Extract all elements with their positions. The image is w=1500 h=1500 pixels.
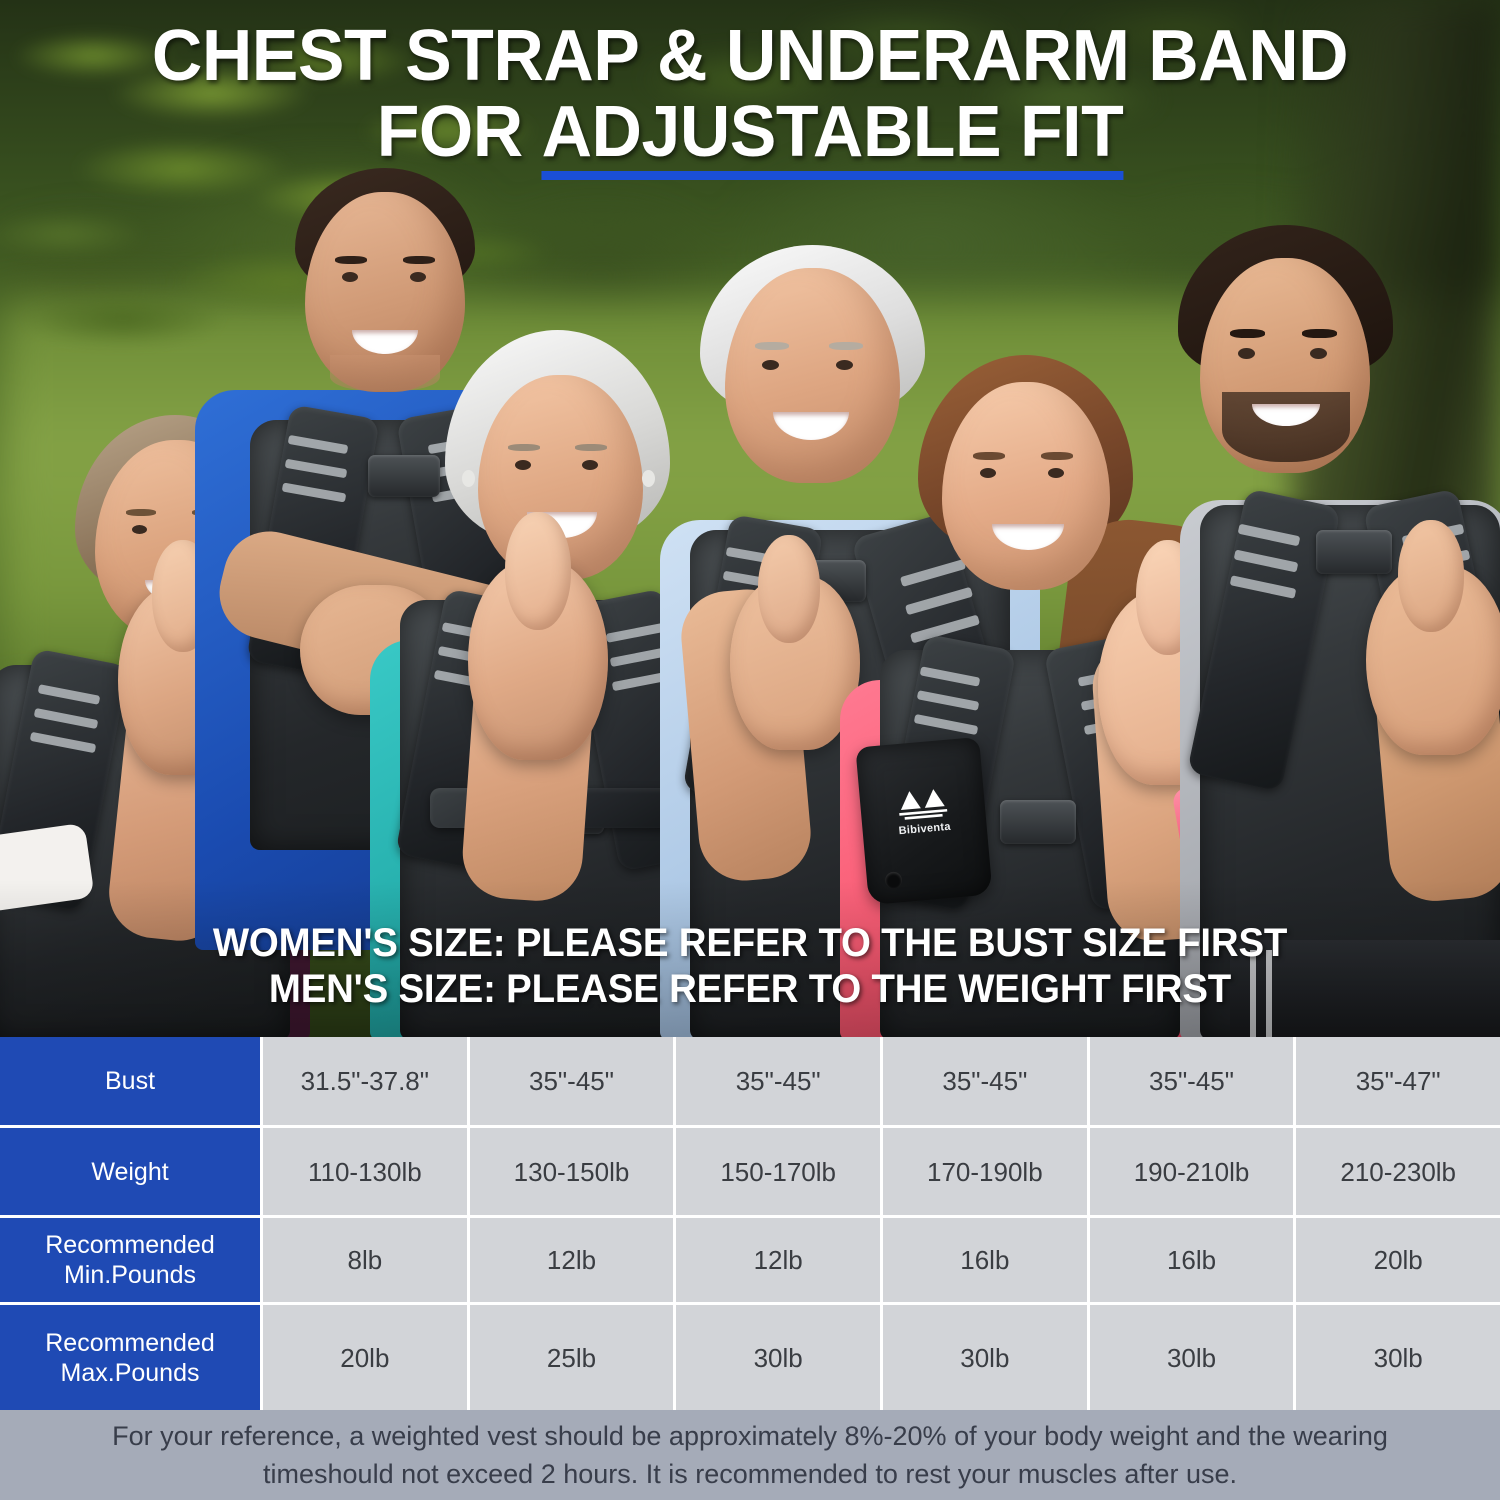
- cell-max-2: 25lb: [467, 1305, 674, 1410]
- cell-max-1: 20lb: [260, 1305, 467, 1410]
- row-label-max-pounds-l2: Max.Pounds: [61, 1359, 200, 1387]
- beard: [1222, 392, 1350, 462]
- note-mens-size: MEN'S SIZE: PLEASE REFER TO THE WEIGHT F…: [30, 966, 1470, 1012]
- reference-note-line-1: For your reference, a weighted vest shou…: [112, 1417, 1388, 1455]
- headline-line-1: CHEST STRAP & UNDERARM BAND: [23, 18, 1478, 94]
- cell-min-6: 20lb: [1293, 1218, 1500, 1305]
- cell-bust-5: 35"-45": [1087, 1037, 1294, 1128]
- row-label-weight: Weight: [0, 1128, 260, 1218]
- cell-bust-1: 31.5"-37.8": [260, 1037, 467, 1128]
- row-label-max-pounds: RecommendedMax.Pounds: [0, 1305, 260, 1410]
- brand-logo-block: Bibiventa: [881, 783, 965, 839]
- cell-weight-2: 130-150lb: [467, 1128, 674, 1218]
- row-label-min-pounds-l1: Recommended: [45, 1231, 215, 1259]
- headline-line-2: FOR ADJUSTABLE FIT: [23, 94, 1478, 180]
- table-row-max-pounds: RecommendedMax.Pounds 20lb 25lb 30lb 30l…: [0, 1305, 1500, 1410]
- table-row-weight: Weight 110-130lb 130-150lb 150-170lb 170…: [0, 1128, 1500, 1218]
- row-label-min-pounds: RecommendedMin.Pounds: [0, 1218, 260, 1305]
- cell-bust-2: 35"-45": [467, 1037, 674, 1128]
- headline-line-2-underlined: ADJUSTABLE FIT: [542, 94, 1124, 180]
- cell-min-5: 16lb: [1087, 1218, 1294, 1305]
- cell-weight-5: 190-210lb: [1087, 1128, 1294, 1218]
- cell-weight-4: 170-190lb: [880, 1128, 1087, 1218]
- cell-weight-1: 110-130lb: [260, 1128, 467, 1218]
- reference-note: For your reference, a weighted vest shou…: [0, 1410, 1500, 1500]
- row-label-max-pounds-l1: Recommended: [45, 1329, 215, 1357]
- cell-weight-3: 150-170lb: [673, 1128, 880, 1218]
- headline-line-2-plain: FOR: [377, 92, 542, 172]
- cell-min-4: 16lb: [880, 1218, 1087, 1305]
- cell-bust-4: 35"-45": [880, 1037, 1087, 1128]
- cell-bust-3: 35"-45": [673, 1037, 880, 1128]
- table-row-min-pounds: RecommendedMin.Pounds 8lb 12lb 12lb 16lb…: [0, 1218, 1500, 1305]
- cell-max-4: 30lb: [880, 1305, 1087, 1410]
- headline: CHEST STRAP & UNDERARM BAND FOR ADJUSTAB…: [0, 18, 1500, 180]
- cell-min-1: 8lb: [260, 1218, 467, 1305]
- reference-note-line-2: timeshould not exceed 2 hours. It is rec…: [263, 1455, 1237, 1493]
- size-chart-table: Bust 31.5"-37.8" 35"-45" 35"-45" 35"-45"…: [0, 1037, 1500, 1410]
- note-womens-size: WOMEN'S SIZE: PLEASE REFER TO THE BUST S…: [30, 920, 1470, 966]
- mountain-peaks-icon: [893, 784, 952, 823]
- cell-weight-6: 210-230lb: [1293, 1128, 1500, 1218]
- row-label-bust: Bust: [0, 1037, 260, 1128]
- cell-max-3: 30lb: [673, 1305, 880, 1410]
- cell-bust-6: 35"-47": [1293, 1037, 1500, 1128]
- cell-max-6: 30lb: [1293, 1305, 1500, 1410]
- row-label-min-pounds-l2: Min.Pounds: [64, 1261, 196, 1289]
- cell-min-3: 12lb: [673, 1218, 880, 1305]
- cell-min-2: 12lb: [467, 1218, 674, 1305]
- sizing-notes: WOMEN'S SIZE: PLEASE REFER TO THE BUST S…: [0, 920, 1500, 1012]
- table-row-bust: Bust 31.5"-37.8" 35"-45" 35"-45" 35"-45"…: [0, 1037, 1500, 1128]
- cell-max-5: 30lb: [1087, 1305, 1294, 1410]
